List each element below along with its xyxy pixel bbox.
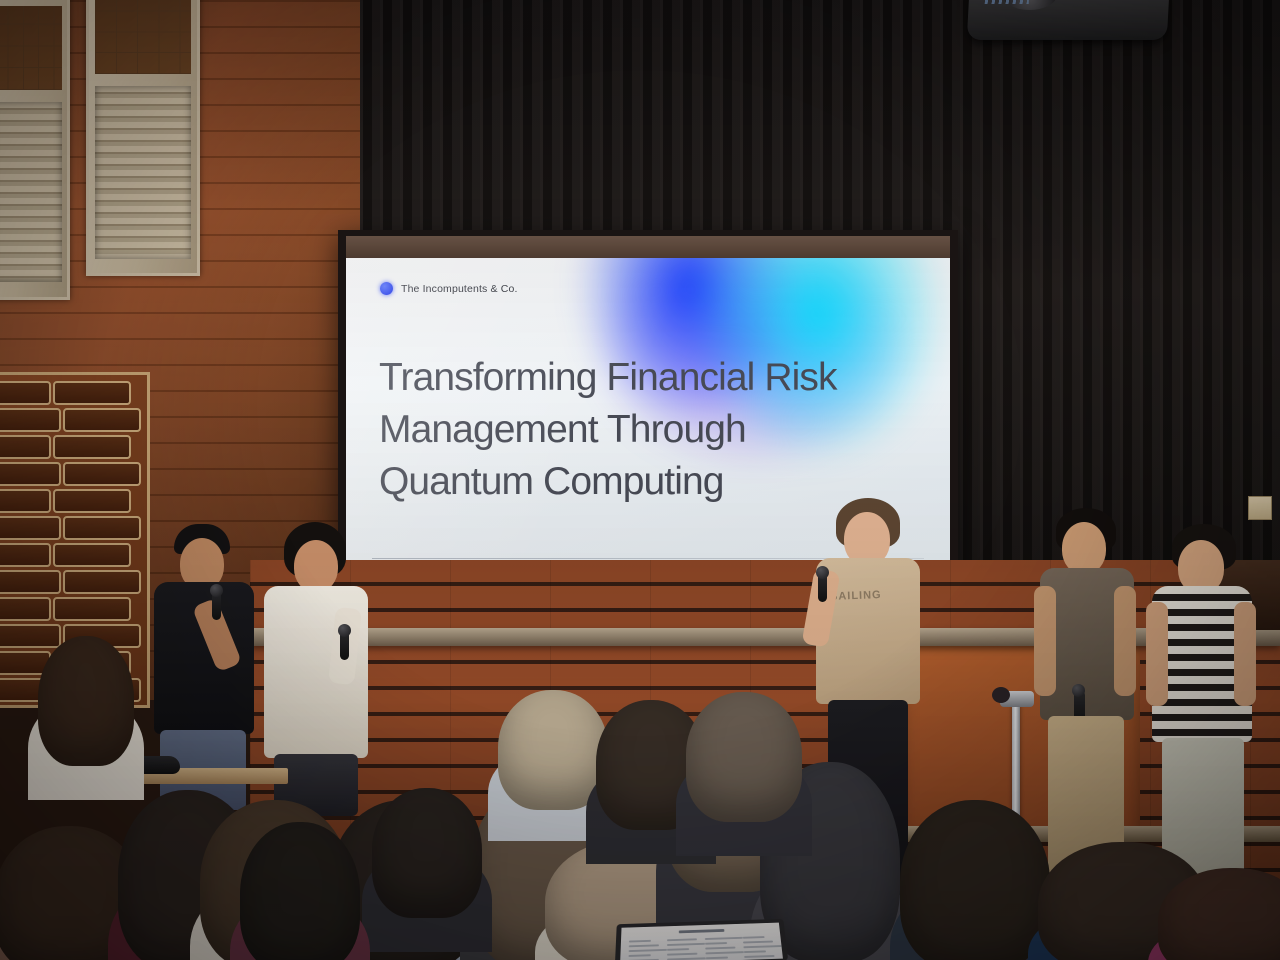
shutter-louvers [0, 102, 62, 282]
wood-slat [0, 597, 51, 621]
handheld-mic [818, 572, 827, 602]
wood-slat [53, 489, 131, 513]
head [1062, 522, 1106, 574]
louvered-shutter-left [0, 0, 70, 300]
mic-on-stand-icon [992, 687, 1010, 703]
slide-title: Transforming Financial Risk Management T… [379, 352, 890, 508]
laptop-doc-line [629, 944, 659, 947]
wood-slat [0, 408, 61, 432]
laptop-doc-line [705, 947, 735, 950]
wood-slat [53, 435, 131, 459]
arm-right [1234, 602, 1256, 706]
wood-slat [53, 597, 131, 621]
wood-slat [0, 462, 61, 486]
slide-brand: The Incomputents & Co. [380, 282, 518, 295]
wood-slat [63, 516, 141, 540]
laptop-doc-line [743, 936, 765, 939]
arm-left [1146, 602, 1168, 706]
audience-head [686, 692, 802, 822]
audience-head [38, 636, 134, 766]
shutter-louvers [95, 86, 190, 259]
wood-slat [0, 570, 61, 594]
audience-head [372, 788, 482, 918]
projector-leds [985, 0, 1029, 4]
audience-head [240, 822, 360, 960]
ceiling-projector [967, 0, 1169, 40]
presentation-photo: The Incomputents & Co. Transforming Fina… [0, 0, 1280, 960]
wood-slat [0, 516, 61, 540]
wall-sign [1248, 496, 1272, 520]
brand-name: The Incomputents & Co. [401, 283, 518, 295]
laptop-doc-line [667, 948, 689, 951]
laptop-doc-line [705, 951, 743, 954]
wood-slat [63, 408, 141, 432]
audience-laptop[interactable] [615, 919, 788, 960]
wood-slat [0, 543, 51, 567]
laptop-doc-line [705, 937, 743, 940]
blue-dot-icon [380, 282, 393, 295]
shutter-grid [0, 6, 62, 90]
louvered-shutter-right [86, 0, 200, 276]
audience-head [900, 800, 1050, 960]
slide-title-line-2: Management Through [379, 404, 890, 456]
arm-right [1114, 586, 1136, 696]
arm-left [1034, 586, 1056, 696]
laptop-doc-line [743, 945, 781, 948]
laptop-display[interactable] [620, 923, 783, 960]
laptop-doc-line [744, 950, 766, 953]
laptop-doc-line [667, 943, 705, 946]
laptop-doc-line [628, 954, 650, 957]
wood-slat [0, 624, 61, 648]
laptop-doc-line [744, 955, 775, 958]
laptop-lid [615, 919, 788, 960]
screen-top-bar [346, 236, 950, 258]
wood-slat [0, 381, 51, 405]
shutter-grid [95, 0, 190, 74]
wood-slat [53, 543, 131, 567]
laptop-doc-line [706, 957, 728, 960]
wood-slat [0, 489, 51, 513]
laptop-doc-line [667, 953, 697, 956]
handheld-mic [212, 590, 221, 620]
wood-slat [0, 435, 51, 459]
laptop-doc-line [667, 938, 697, 941]
head [294, 540, 338, 592]
wood-slat [53, 381, 131, 405]
slide-title-line-1: Transforming Financial Risk [379, 352, 890, 404]
laptop-doc-line [629, 949, 667, 952]
laptop-doc-line [743, 941, 773, 944]
handheld-mic [340, 630, 349, 660]
wood-slat [63, 462, 141, 486]
wood-slat [63, 570, 141, 594]
tshirt-text: SAILING [830, 589, 882, 603]
laptop-doc-header [679, 929, 725, 933]
laptop-doc-line [705, 942, 727, 945]
laptop-doc-line [629, 940, 651, 943]
